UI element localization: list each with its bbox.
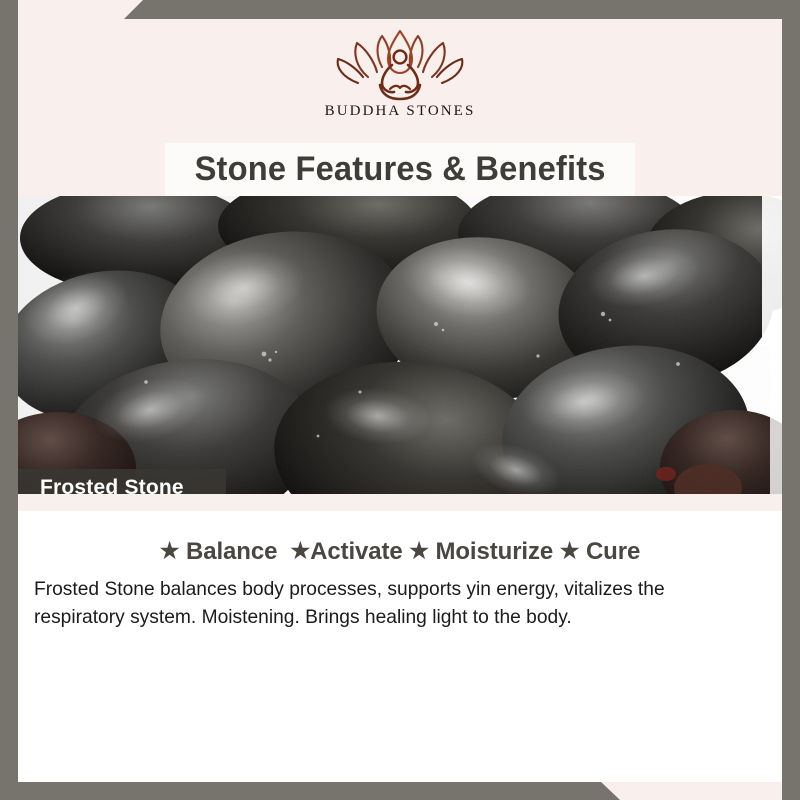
benefit-label-cure: Cure — [586, 538, 640, 565]
title-band-row: Stone Features & Benefits — [18, 143, 782, 196]
content-body: ★ Balance ★Activate ★ Moisturize ★ Cure … — [18, 511, 782, 782]
benefit-label-moisturize: Moisturize — [435, 538, 553, 565]
page-title: Stone Features & Benefits — [194, 150, 605, 189]
poster-card: BUDDHA STONES Stone Features & Benefits — [18, 19, 782, 782]
benefit-star-icon-1: ★ — [160, 538, 180, 563]
frame-border-left — [0, 0, 18, 800]
brand-name: BUDDHA STONES — [325, 103, 476, 120]
benefit-star-icon-4: ★ — [560, 538, 580, 563]
frame-border-right — [782, 0, 800, 800]
benefit-label-activate: Activate — [310, 538, 403, 565]
benefit-star-icon-3: ★ — [409, 538, 429, 563]
frame-border-bottom — [0, 781, 800, 800]
brand-logo: BUDDHA STONES — [18, 27, 782, 120]
benefit-label-balance: Balance — [186, 538, 277, 565]
photo-separator — [18, 494, 782, 511]
benefits-line: ★ Balance ★Activate ★ Moisturize ★ Cure — [18, 538, 782, 566]
poster-canvas: BUDDHA STONES Stone Features & Benefits — [0, 0, 800, 800]
benefit-star-icon-2: ★ — [290, 538, 310, 563]
stone-photo — [18, 196, 782, 494]
frame-border-top — [0, 0, 800, 19]
brand-header: BUDDHA STONES — [18, 19, 782, 143]
title-band: Stone Features & Benefits — [165, 143, 635, 196]
stone-description: Frosted Stone balances body processes, s… — [34, 575, 755, 631]
lotus-meditation-icon — [330, 27, 470, 101]
